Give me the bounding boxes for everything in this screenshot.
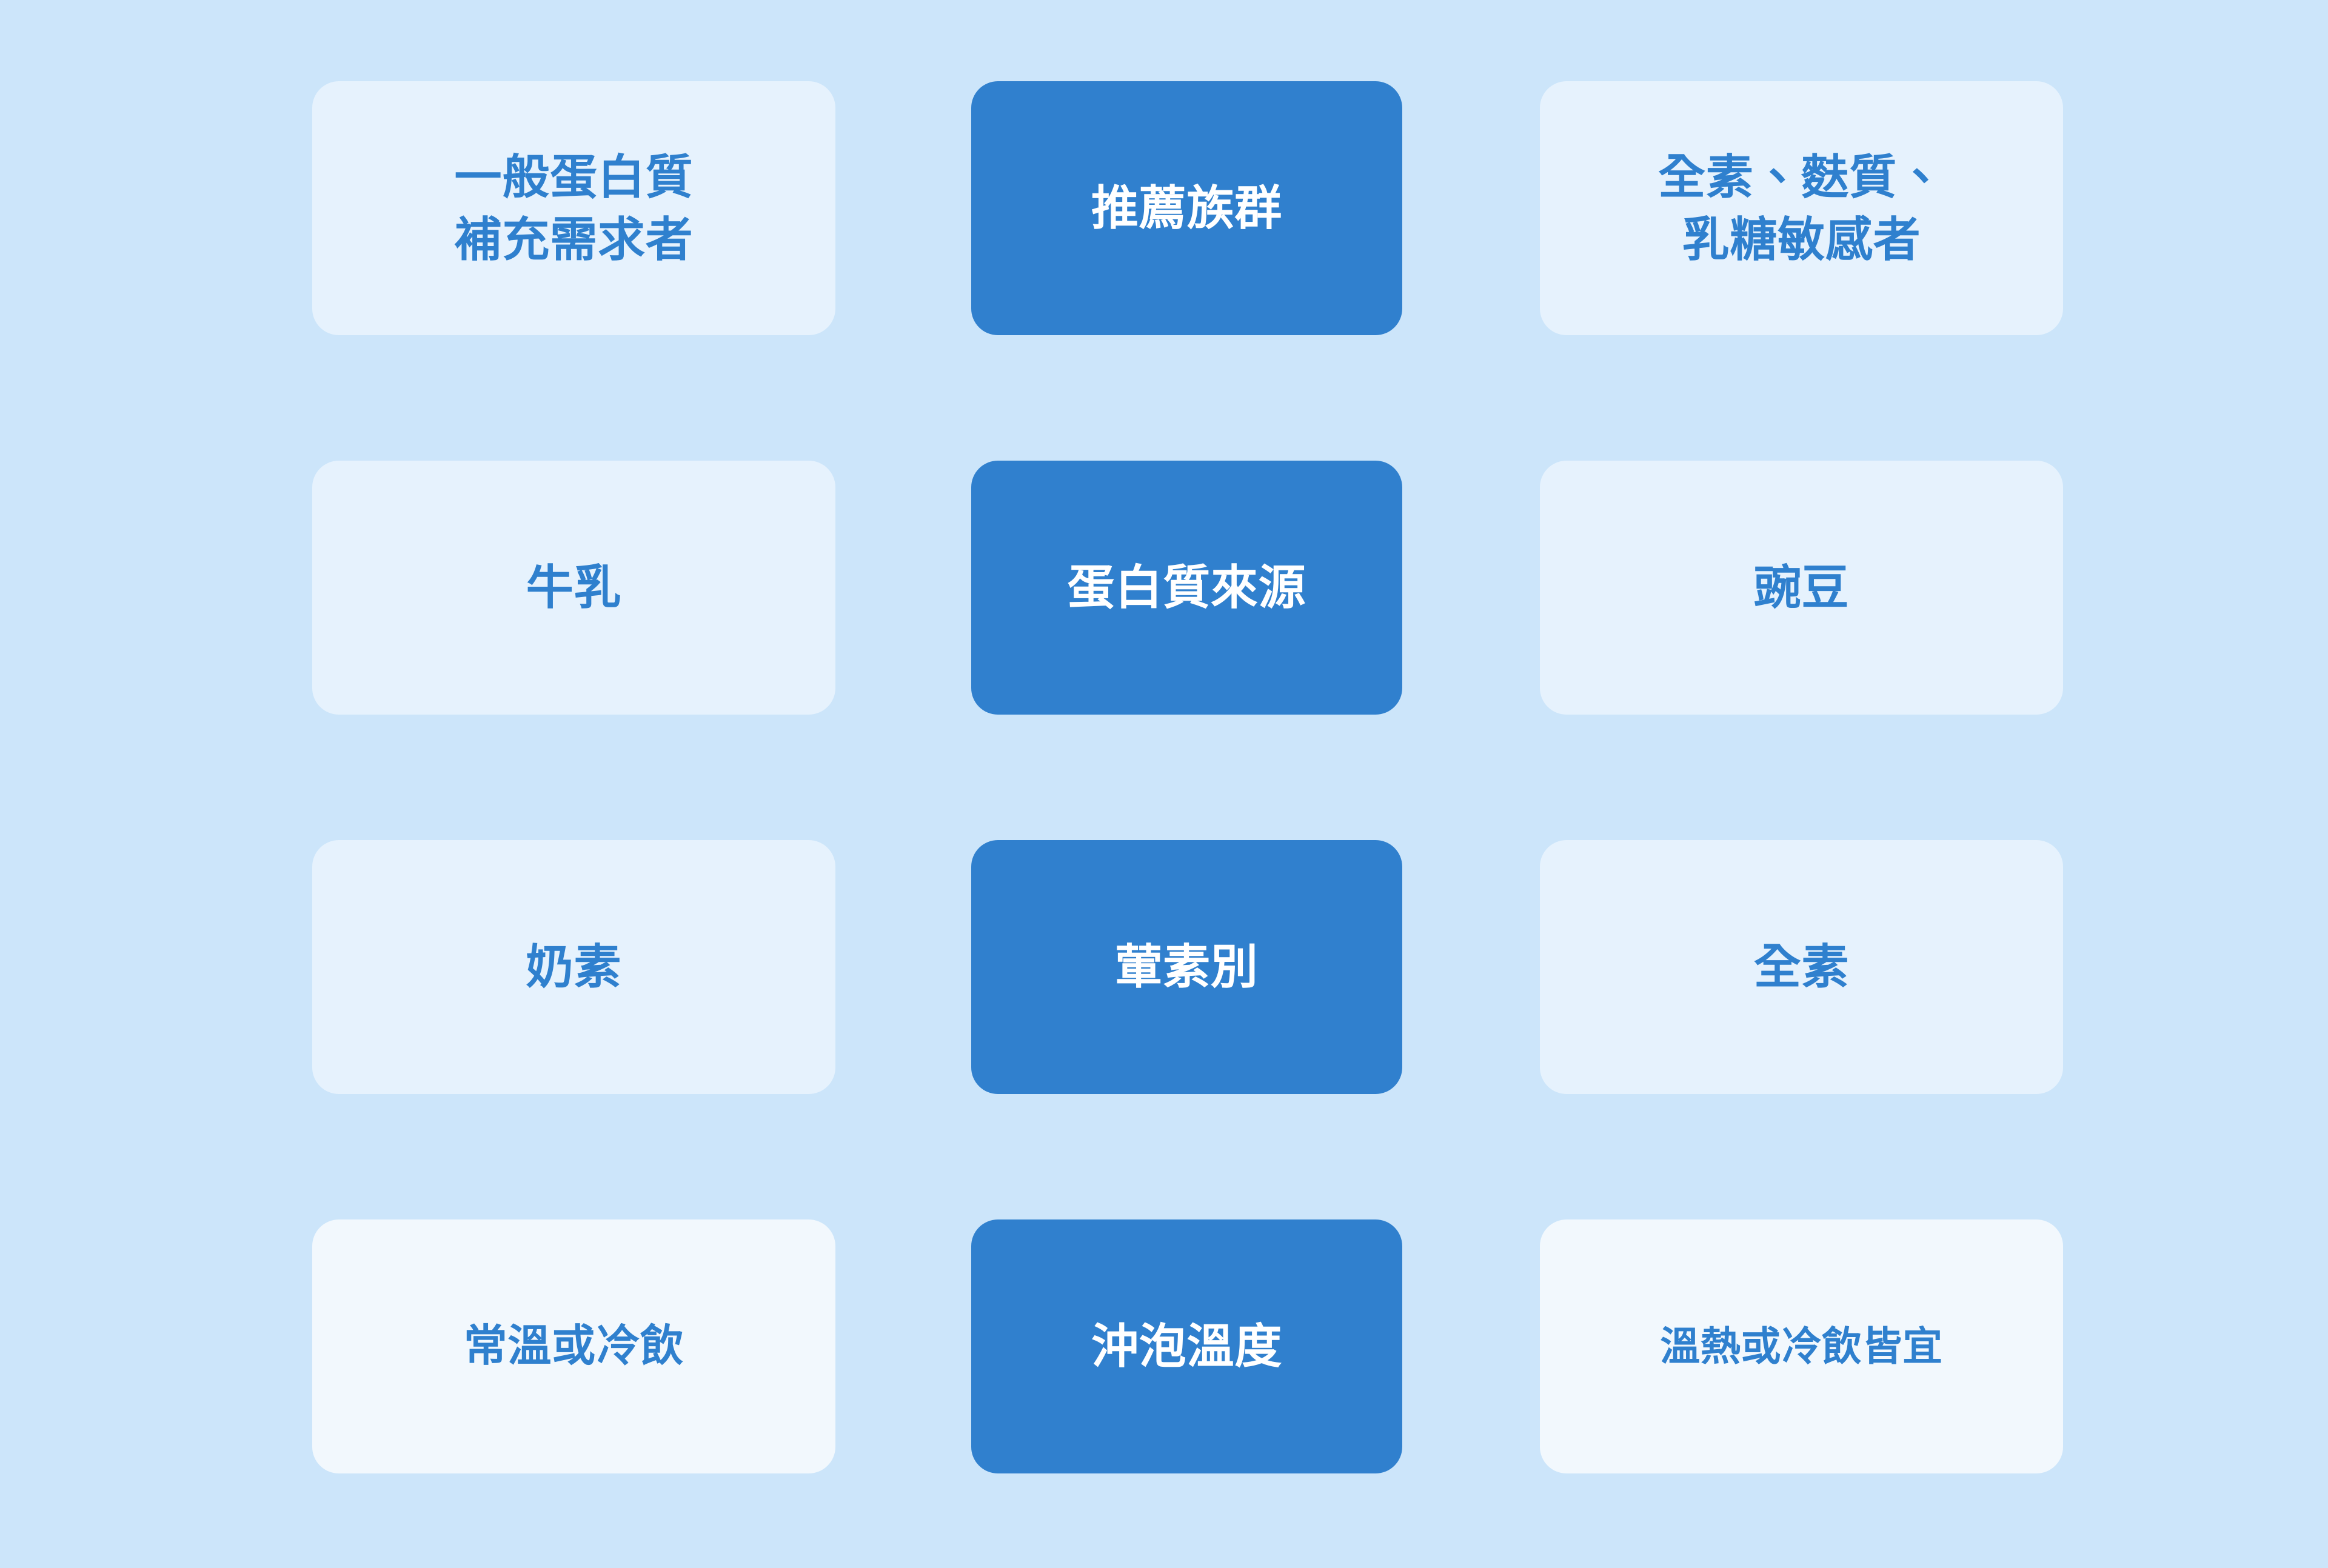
table-cell-right-row-4: 溫熱或冷飲皆宜 [1540,1219,2063,1473]
cell-label: 推薦族群 [1091,177,1282,239]
table-cell-left-row-2: 牛乳 [312,461,835,715]
comparison-table: 一般蛋白質 補充需求者 推薦族群 全素、麩質、 乳糖敏感者 牛乳 蛋白質來源 豌… [0,0,2328,1568]
cell-value: 溫熱或冷飲皆宜 [1660,1320,1943,1373]
column-gap [1402,461,1540,715]
table-cell-left-row-4: 常溫或冷飲 [312,1219,835,1473]
cell-value: 一般蛋白質 補充需求者 [455,146,694,271]
table-cell-right-row-2: 豌豆 [1540,461,2063,715]
cell-value: 常溫或冷飲 [464,1318,684,1375]
cell-value: 奶素 [526,936,622,998]
table-label-row-3: 葷素別 [971,840,1402,1094]
column-gap [835,461,971,715]
column-gap [835,1219,971,1473]
table-cell-right-row-1: 全素、麩質、 乳糖敏感者 [1540,81,2063,335]
table-label-row-1: 推薦族群 [971,81,1402,335]
table-cell-left-row-3: 奶素 [312,840,835,1094]
table-cell-left-row-1: 一般蛋白質 補充需求者 [312,81,835,335]
cell-label: 葷素別 [1115,936,1258,998]
cell-value: 牛乳 [526,556,622,619]
cell-value: 豌豆 [1754,556,1850,619]
cell-value: 全素、麩質、 乳糖敏感者 [1658,146,1945,271]
column-gap [835,840,971,1094]
cell-label: 沖泡溫度 [1091,1315,1282,1378]
table-label-row-4: 沖泡溫度 [971,1219,1402,1473]
cell-value: 全素 [1754,936,1850,998]
table-label-row-2: 蛋白質來源 [971,461,1402,715]
column-gap [1402,81,1540,335]
column-gap [1402,840,1540,1094]
table-cell-right-row-3: 全素 [1540,840,2063,1094]
column-gap [835,81,971,335]
column-gap [1402,1219,1540,1473]
cell-label: 蛋白質來源 [1068,556,1306,619]
